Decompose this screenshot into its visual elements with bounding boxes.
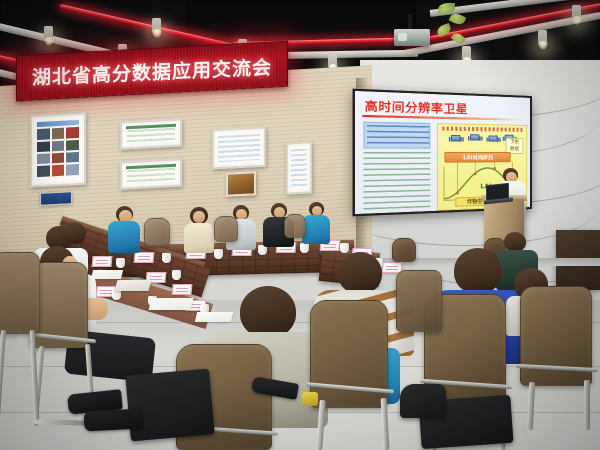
name-card [92, 256, 113, 267]
paper-cup [214, 249, 223, 259]
paper-cup [116, 258, 125, 268]
satellite-icon [489, 135, 498, 141]
photo-grid-poster [30, 113, 86, 188]
paper-cup [172, 270, 181, 280]
track-spotlight [538, 30, 547, 45]
legend-line-2: 数据 [510, 147, 519, 152]
track-spotlight [572, 5, 581, 20]
yellow-object [302, 392, 318, 406]
chair-back [144, 218, 170, 246]
paper-cup [162, 253, 171, 263]
legend-line-1: 卫星 [510, 140, 519, 145]
green-text-poster-top [120, 118, 182, 149]
slide-body-text [363, 152, 430, 210]
paper-cup [340, 243, 349, 253]
track-spotlight [44, 26, 53, 41]
projector-lens [398, 33, 407, 41]
slide-orange-bar: LAI时间序列 [445, 152, 511, 163]
paper-sheet [149, 298, 194, 310]
satellite-icon [451, 135, 461, 141]
paper-cup [300, 243, 309, 253]
bag [400, 384, 446, 418]
chair-back [392, 238, 416, 262]
shoe [84, 408, 143, 431]
track-spotlight [462, 46, 471, 61]
chair-back [214, 216, 238, 242]
slide-blue-callout [363, 122, 430, 149]
paper-sheet [195, 312, 233, 322]
name-card [172, 284, 193, 295]
slide-left-column [363, 122, 432, 212]
name-card [134, 252, 155, 263]
paper-cup [112, 290, 121, 300]
track-spotlight [152, 18, 161, 33]
green-text-poster-bottom [120, 158, 182, 189]
satellite-icon [470, 134, 479, 140]
chair-back [284, 214, 306, 238]
track-spotlight [328, 53, 337, 68]
blue-diagram-poster [212, 127, 266, 170]
conference-room-photo: 湖北省高分数据应用交流会 高时间分辨率卫星 [0, 0, 600, 450]
banner-text: 湖北省高分数据应用交流会 [32, 52, 272, 89]
notebook [114, 280, 151, 291]
bag [125, 368, 214, 441]
paper-sheet [91, 270, 123, 279]
wooden-award-plaque [226, 171, 256, 197]
blue-satellite-poster [286, 141, 312, 194]
presenter-laptop [486, 183, 509, 201]
blue-name-plate [40, 191, 72, 206]
